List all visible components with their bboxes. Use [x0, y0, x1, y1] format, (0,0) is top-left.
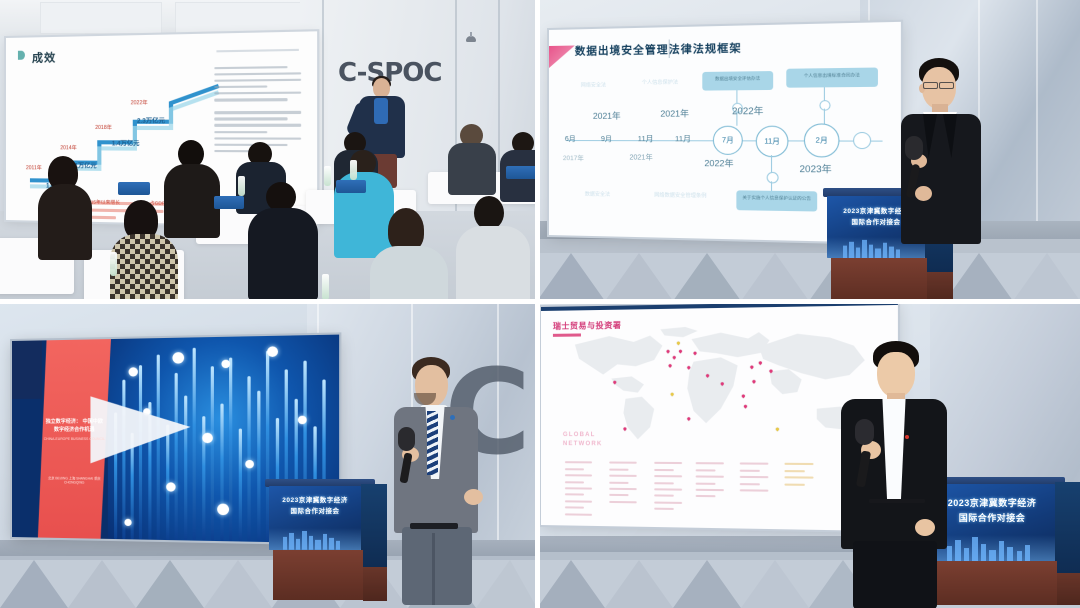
timeline-node-5: 11月 — [756, 126, 789, 158]
title-divider — [669, 40, 670, 59]
grid-gutter-vertical — [535, 0, 540, 608]
timeline-node-6: 2月 — [804, 123, 840, 157]
timeline-year-upper-0: 2021年 — [593, 110, 621, 122]
trousers — [402, 527, 472, 605]
slide-title: 数据出境安全管理法律法规框架 — [575, 40, 742, 58]
global-network-line2: NETWORK — [563, 441, 603, 447]
water-bottle — [110, 252, 117, 276]
security-camera-icon — [466, 36, 476, 42]
step-label-red-0: 2011年 — [26, 164, 42, 171]
speaker-figure — [388, 357, 518, 605]
podium: 2023京津冀数字经济 国际合作对接会 — [265, 479, 395, 605]
divider — [216, 49, 298, 53]
timeline-month-0: 6月 — [565, 134, 576, 144]
timeline-box-bottom: 关于实施个人信息保护认证的公告 — [736, 190, 817, 211]
slide-title: 成效 — [32, 49, 56, 66]
timeline-endpoint — [819, 100, 830, 111]
timeline-month-3: 11月 — [675, 133, 691, 144]
step-label-red-2: 2018年 — [95, 124, 112, 131]
timeline-year-upper-1: 2021年 — [660, 107, 689, 119]
ceiling-tile — [40, 2, 162, 34]
water-bottle — [238, 176, 245, 196]
timeline-box-top-0: 数据出境安全评估办法 — [702, 71, 773, 91]
tiled-floor — [537, 253, 1080, 301]
legend-column — [609, 457, 644, 507]
panel-bottom-right: 瑞士贸易与投资署 — [537, 301, 1080, 608]
trousers — [853, 541, 937, 608]
timeline-ghost-label-0: 网络安全法 — [581, 81, 606, 88]
legend-column — [784, 459, 821, 491]
legend-column — [654, 458, 689, 515]
legend-column — [696, 458, 732, 502]
speaker-figure — [837, 341, 987, 608]
legend-column — [565, 457, 599, 520]
global-network-label: GLOBAL NETWORK — [563, 431, 603, 449]
timeline-node-4: 7月 — [713, 126, 743, 155]
panel-bottom-left: C — [0, 301, 537, 608]
name-plate — [506, 166, 537, 179]
timeline-box-top-1: 个人信息出境标准合同办法 — [786, 67, 878, 87]
trouser-seam — [432, 533, 435, 605]
timeline-ghost-label-1: 个人信息保护法 — [642, 78, 678, 86]
legend-column — [740, 458, 776, 496]
timeline-month-1: 9月 — [601, 134, 612, 144]
step-value-2: 1.4万亿元 — [112, 138, 140, 147]
global-network-line1: GLOBAL — [563, 432, 596, 438]
timeline-year-upper-2: 2022年 — [732, 104, 763, 118]
timeline-endpoint — [767, 172, 779, 184]
lapel-pin — [450, 415, 455, 420]
timeline-ghost-label-bottom-1: 网络数据安全管理条例 — [654, 191, 706, 199]
led-title-line1: 独立数字经济： — [46, 419, 81, 425]
led-footer: 北京 BEIJING 上海 SHANGHAI 重庆 CHONGQING — [40, 475, 109, 485]
photo-grid: C-SPOC 成效 2011年 2014年 2018年 2022年 1万亿元 1… — [0, 0, 1080, 608]
step-label-red-1: 2014年 — [60, 144, 76, 151]
led-subtitle: CHINA-EUROPE BUSINESS COUNCIL — [42, 437, 107, 443]
step-value-1: 1万亿元 — [75, 161, 97, 170]
timeline-year-lower-2: 2022年 — [704, 157, 733, 170]
timeline-ghost-label-bottom-0: 数据安全法 — [585, 190, 610, 197]
navy-corner — [12, 340, 42, 399]
led-title-line3: 数字经济合作机遇 — [54, 426, 95, 432]
bullet-icon — [18, 51, 25, 60]
water-bottle — [350, 160, 357, 180]
belt — [410, 523, 458, 529]
ceiling-tile — [175, 2, 307, 34]
led-title: 独立数字经济： 中国中欧 数字经济合作机遇 — [42, 419, 107, 434]
water-bottle — [322, 274, 329, 300]
panel-top-left: C-SPOC 成效 2011年 2014年 2018年 2022年 1万亿元 1… — [0, 0, 537, 301]
name-plate — [118, 182, 150, 195]
timeline-month-2: 11月 — [638, 133, 654, 144]
podium-sign-line2: 国际合作对接会 — [269, 505, 361, 515]
led-title-line2: 中国中欧 — [82, 419, 102, 425]
name-plate — [336, 180, 366, 193]
panel-top-right: 数据出境安全管理法律法规框架 网络安全法 个人信息保护法 数据出境安全评估办法 … — [537, 0, 1080, 301]
water-bottle — [324, 166, 331, 186]
grid-gutter-horizontal — [0, 299, 1080, 304]
speaker-figure — [889, 58, 1019, 258]
step-value-3: 2.3万亿元 — [137, 116, 165, 125]
name-plate — [214, 196, 244, 209]
timeline-endpoint — [853, 132, 871, 149]
collage-root: C-SPOC 成效 2011年 2014年 2018年 2022年 1万亿元 1… — [0, 0, 1080, 608]
step-label-red-3: 2022年 — [131, 99, 148, 106]
timeline-year-lower-3: 2023年 — [799, 162, 831, 176]
timeline-year-lower-1: 2021年 — [629, 152, 652, 162]
timeline-year-lower-0: 2017年 — [563, 152, 584, 162]
accent-wedge — [549, 45, 575, 68]
podium-sign-line1: 2023京津冀数字经济 — [269, 494, 361, 504]
